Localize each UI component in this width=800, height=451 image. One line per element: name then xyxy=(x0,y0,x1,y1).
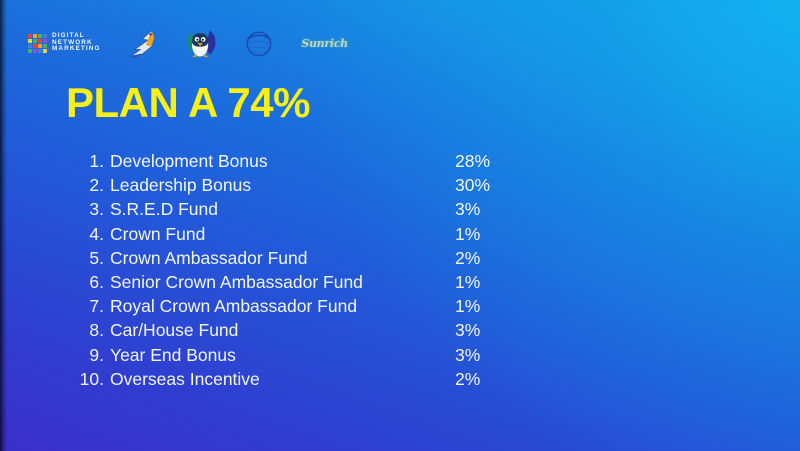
list-item-percent: 3% xyxy=(455,345,525,366)
list-item-percent: 2% xyxy=(455,248,525,269)
list-item-label: Leadership Bonus xyxy=(110,175,455,196)
list-item-number: 3. xyxy=(74,199,110,220)
presentation-slide: DIGITAL NETWORK MARKETING xyxy=(0,0,800,451)
list-item-label: Crown Ambassador Fund xyxy=(110,248,455,269)
list-item-number: 6. xyxy=(74,272,110,293)
list-item-percent: 28% xyxy=(455,151,525,172)
list-item: 4. Crown Fund 1% xyxy=(74,224,525,248)
logo-circular-emblem xyxy=(241,23,277,63)
list-item-label: Overseas Incentive xyxy=(110,369,455,390)
penguin-icon xyxy=(183,25,219,61)
list-item: 2. Leadership Bonus 30% xyxy=(74,175,525,199)
list-item-number: 2. xyxy=(74,175,110,196)
bird-icon xyxy=(123,24,161,62)
list-item-number: 9. xyxy=(74,345,110,366)
list-item-label: Year End Bonus xyxy=(110,345,455,366)
list-item: 6. Senior Crown Ambassador Fund 1% xyxy=(74,272,525,296)
logo-line-marketing: MARKETING xyxy=(52,46,101,53)
list-item-number: 8. xyxy=(74,320,110,341)
list-item: 5. Crown Ambassador Fund 2% xyxy=(74,248,525,272)
list-item-percent: 3% xyxy=(455,199,525,220)
circular-emblem-icon xyxy=(241,25,277,61)
script-wordmark-text: Sunrich xyxy=(301,37,348,50)
list-item-label: Royal Crown Ambassador Fund xyxy=(110,296,455,317)
list-item-percent: 1% xyxy=(455,296,525,317)
list-item-label: Development Bonus xyxy=(110,151,455,172)
list-item: 9. Year End Bonus 3% xyxy=(74,345,525,369)
list-item-label: S.R.E.D Fund xyxy=(110,199,455,220)
logo-penguin xyxy=(183,23,219,63)
list-item: 3. S.R.E.D Fund 3% xyxy=(74,199,525,223)
list-item-number: 5. xyxy=(74,248,110,269)
logo-strip: DIGITAL NETWORK MARKETING xyxy=(28,22,351,64)
list-item-percent: 30% xyxy=(455,175,525,196)
list-item-percent: 2% xyxy=(455,369,525,390)
list-item-label: Crown Fund xyxy=(110,224,455,245)
list-item: 7. Royal Crown Ambassador Fund 1% xyxy=(74,296,525,320)
page-title: PLAN A 74% xyxy=(66,79,310,127)
list-item: 1. Development Bonus 28% xyxy=(74,151,525,175)
list-item-number: 1. xyxy=(74,151,110,172)
pixel-grid-icon xyxy=(28,34,47,53)
list-item-percent: 1% xyxy=(455,224,525,245)
list-item-number: 7. xyxy=(74,296,110,317)
logo-bird xyxy=(123,23,161,63)
logo-digital-network-marketing: DIGITAL NETWORK MARKETING xyxy=(28,23,101,63)
list-item: 10. Overseas Incentive 2% xyxy=(74,369,525,393)
list-item-label: Senior Crown Ambassador Fund xyxy=(110,272,455,293)
list-item-number: 4. xyxy=(74,224,110,245)
list-item-percent: 1% xyxy=(455,272,525,293)
plan-list: 1. Development Bonus 28% 2. Leadership B… xyxy=(74,151,525,393)
logo-script-wordmark: Sunrich xyxy=(299,28,351,58)
list-item: 8. Car/House Fund 3% xyxy=(74,320,525,344)
list-item-number: 10. xyxy=(74,369,110,390)
list-item-label: Car/House Fund xyxy=(110,320,455,341)
list-item-percent: 3% xyxy=(455,320,525,341)
